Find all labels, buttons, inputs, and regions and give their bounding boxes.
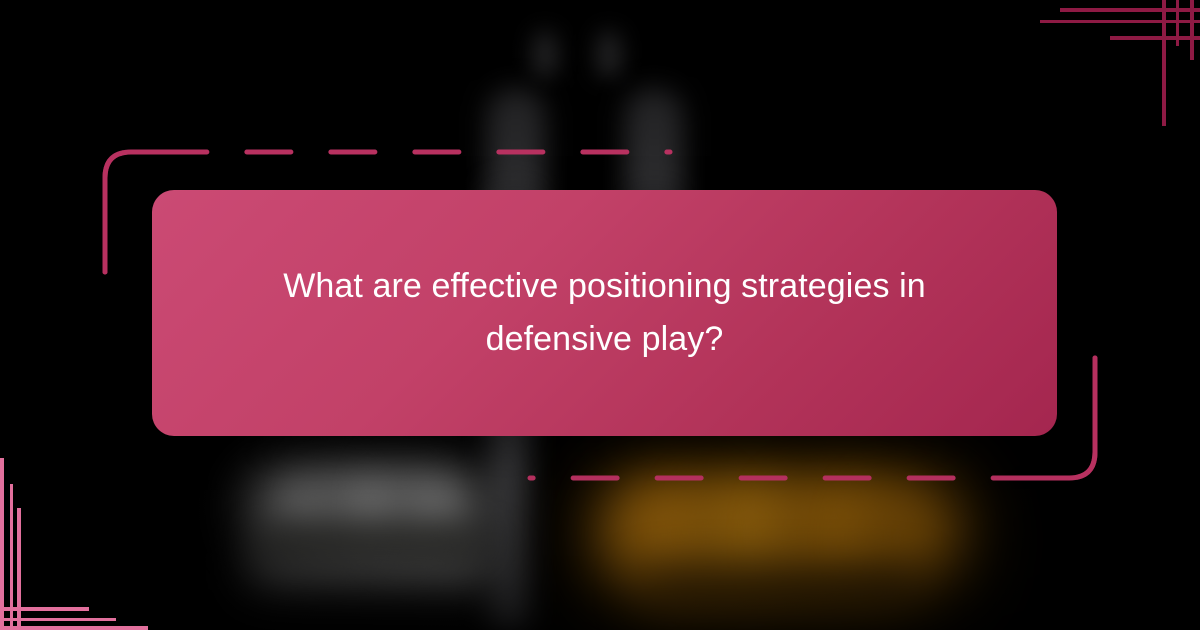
background-shape-bottle-neck-right bbox=[597, 30, 621, 76]
background-shape-grey-base bbox=[248, 548, 494, 588]
question-card: What are effective positioning strategie… bbox=[152, 190, 1057, 436]
background-shape-bottle-neck-left bbox=[533, 30, 557, 76]
background-shape-orange-four bbox=[866, 494, 952, 582]
question-text: What are effective positioning strategie… bbox=[224, 260, 985, 365]
background-shape-grey-shadow bbox=[262, 528, 476, 554]
poster-canvas: What are effective positioning strategie… bbox=[0, 0, 1200, 630]
background-shape-orange-shadow bbox=[640, 572, 920, 612]
